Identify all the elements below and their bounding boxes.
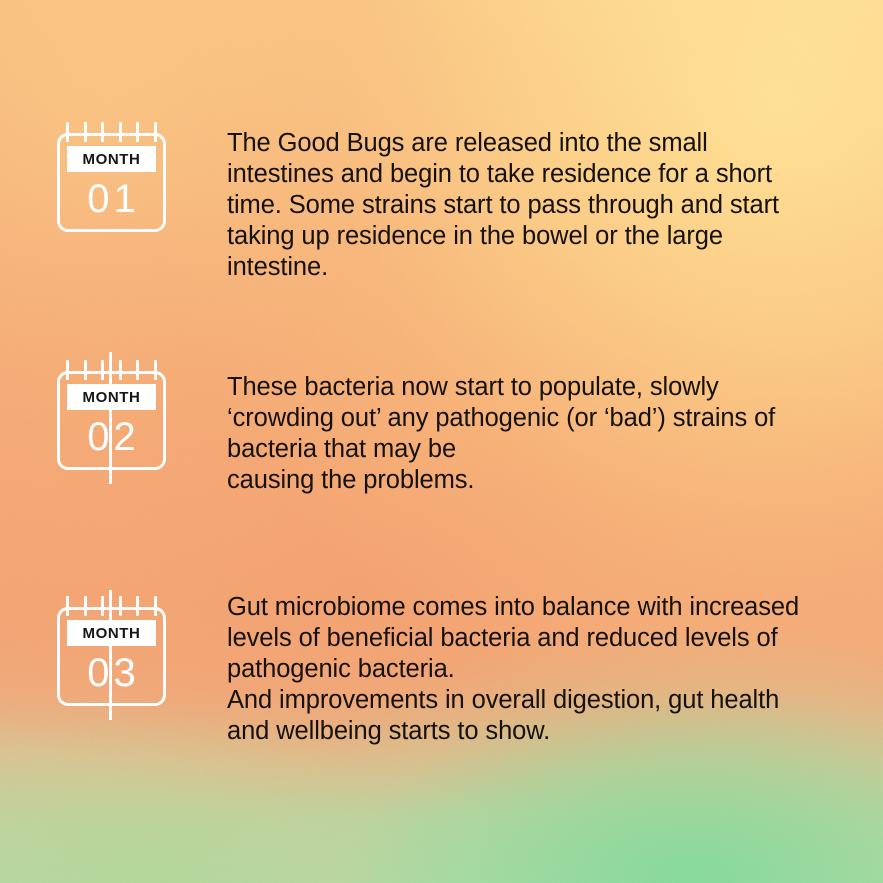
calendar-ring-icon bbox=[66, 596, 69, 616]
calendar-ring-icon bbox=[136, 596, 139, 616]
calendar-ring-icon bbox=[101, 596, 104, 616]
step-body-month-02: These bacteria now start to populate, sl… bbox=[227, 372, 817, 496]
step-body-month-01: The Good Bugs are released into the smal… bbox=[227, 128, 817, 283]
calendar-month-number-03: 03 bbox=[60, 650, 163, 696]
calendar-ring-icon bbox=[154, 596, 157, 616]
calendar-month-band-01: MONTH bbox=[67, 146, 156, 172]
calendar-month-label-03: MONTH bbox=[83, 626, 141, 641]
calendar-ring-icon bbox=[136, 360, 139, 380]
calendar-month-label-01: MONTH bbox=[83, 152, 141, 167]
step-body-month-03: Gut microbiome comes into balance with i… bbox=[227, 592, 817, 747]
calendar-ring-icon bbox=[119, 122, 122, 142]
calendar-icon-month-01: MONTH 01 bbox=[57, 133, 166, 232]
calendar-month-band-02: MONTH bbox=[67, 384, 156, 410]
calendar-ring-icon bbox=[136, 122, 139, 142]
calendar-icon-month-03: MONTH 03 bbox=[57, 607, 166, 706]
calendar-ring-icon bbox=[119, 596, 122, 616]
calendar-month-number-02: 02 bbox=[60, 414, 163, 460]
calendar-rings-month-01 bbox=[57, 122, 166, 142]
calendar-ring-icon bbox=[101, 122, 104, 142]
infographic-poster: MONTH 01 MONTH 02 bbox=[0, 0, 883, 883]
calendar-rings-month-03 bbox=[57, 596, 166, 616]
calendar-icon-month-02: MONTH 02 bbox=[57, 371, 166, 470]
calendar-ring-icon bbox=[84, 596, 87, 616]
calendar-ring-icon bbox=[119, 360, 122, 380]
calendar-month-band-03: MONTH bbox=[67, 620, 156, 646]
calendar-ring-icon bbox=[101, 360, 104, 380]
calendar-ring-icon bbox=[66, 360, 69, 380]
calendar-ring-icon bbox=[66, 122, 69, 142]
calendar-ring-icon bbox=[84, 122, 87, 142]
calendar-ring-icon bbox=[154, 122, 157, 142]
calendar-ring-icon bbox=[84, 360, 87, 380]
calendar-ring-icon bbox=[154, 360, 157, 380]
calendar-month-number-01: 01 bbox=[60, 176, 163, 222]
calendar-rings-month-02 bbox=[57, 360, 166, 380]
calendar-month-label-02: MONTH bbox=[83, 390, 141, 405]
